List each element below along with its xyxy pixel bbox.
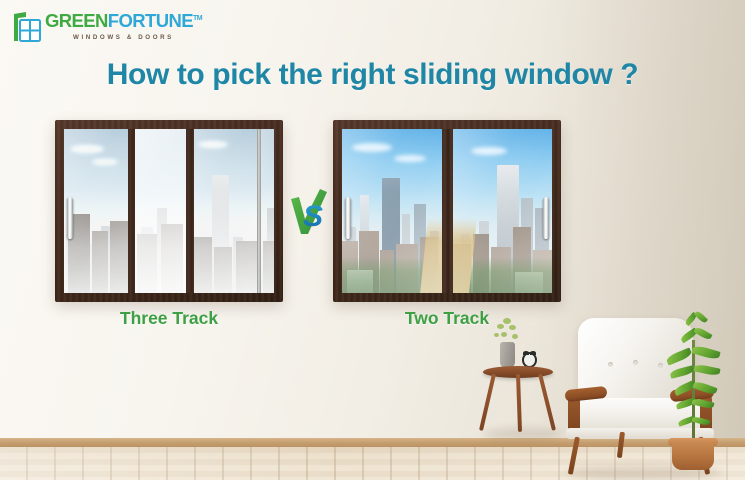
window-handle-right-pane2[interactable] — [543, 197, 549, 239]
window-pane-right-1 — [342, 129, 442, 293]
window-pane-4 — [261, 129, 274, 293]
svg-text:S: S — [303, 200, 323, 233]
versus-badge: S — [287, 186, 331, 238]
page-title: How to pick the right sliding window ? — [0, 58, 745, 92]
two-track-window[interactable] — [333, 120, 561, 302]
vase-with-greenery — [500, 342, 515, 368]
logo-word-blue: FORTUNE — [108, 10, 193, 31]
table-leg — [479, 374, 496, 431]
table-leg — [516, 374, 522, 432]
label-three-track: Three Track — [55, 308, 283, 329]
plant-pot — [672, 442, 714, 470]
three-track-glass-area — [64, 129, 274, 293]
window-pane-2 — [135, 129, 186, 293]
plant-stem — [692, 340, 695, 444]
window-pane-right-2 — [453, 129, 553, 293]
window-handle-right-pane1[interactable] — [345, 197, 351, 239]
brand-logo[interactable]: GREENFORTUNETM WINDOWS & DOORS — [12, 11, 202, 43]
infographic-canvas: GREENFORTUNETM WINDOWS & DOORS How to pi… — [0, 0, 745, 480]
window-pane-1 — [64, 129, 128, 293]
table-shadow — [484, 428, 562, 440]
room-furniture — [470, 300, 745, 480]
window-mullion-1 — [128, 129, 135, 293]
window-handle-left[interactable] — [67, 197, 73, 239]
window-pane-3 — [194, 129, 257, 293]
two-track-glass-area — [342, 129, 552, 293]
trademark-symbol: TM — [193, 15, 202, 22]
window-logo-icon — [12, 11, 42, 43]
table-leg — [538, 374, 556, 431]
three-track-window[interactable] — [55, 120, 283, 302]
logo-word-green: GREEN — [45, 10, 108, 31]
window-mullion-2 — [186, 129, 194, 293]
window-mullion-right — [442, 129, 453, 293]
logo-tagline: WINDOWS & DOORS — [45, 34, 202, 41]
